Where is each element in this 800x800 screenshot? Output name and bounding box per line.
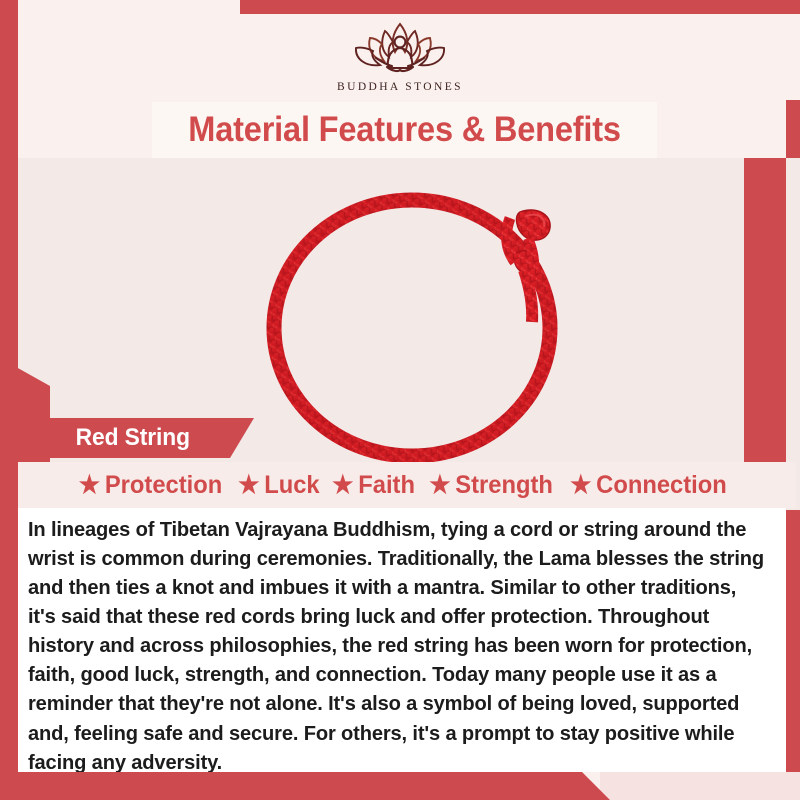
benefit-label: Connection [596,471,727,500]
star-icon: ★ [570,473,591,498]
product-label-ribbon: Red String [18,418,254,458]
brand-name: BUDDHA STONES [337,81,463,93]
frame-bottom-red-bar [0,772,610,800]
title-banner: Material Features & Benefits [152,102,657,158]
benefits-row: ★ Protection ★ Luck ★ Faith ★ Strength ★… [0,462,796,508]
benefit-item-protection: ★ Protection [79,471,222,500]
frame-bottom-fade [600,772,800,800]
brand-logo: BUDDHA STONES [0,18,800,93]
page-title: Material Features & Benefits [188,110,621,150]
benefit-label: Protection [105,471,222,500]
lotus-meditation-figure-icon [340,18,460,80]
description-text: In lineages of Tibetan Vajrayana Buddhis… [28,516,766,778]
benefit-item-connection: ★ Connection [570,471,727,500]
benefit-item-faith: ★ Faith [332,471,415,500]
frame-top-red-band [240,0,800,14]
benefit-item-luck: ★ Luck [238,471,319,500]
infographic-canvas: BUDDHA STONES Material Features & Benefi… [0,0,800,800]
benefit-label: Strength [456,471,554,500]
description-panel: In lineages of Tibetan Vajrayana Buddhis… [18,508,786,772]
red-string-bracelet-image [252,166,582,496]
star-icon: ★ [430,473,451,498]
benefit-item-strength: ★ Strength [430,471,554,500]
star-icon: ★ [79,473,100,498]
star-icon: ★ [332,473,353,498]
star-icon: ★ [238,473,259,498]
frame-left-red-edge [0,0,18,800]
benefit-label: Faith [359,471,416,500]
benefit-label: Luck [264,471,319,500]
brand-header: BUDDHA STONES [0,14,800,100]
product-label-text: Red String [22,424,190,452]
